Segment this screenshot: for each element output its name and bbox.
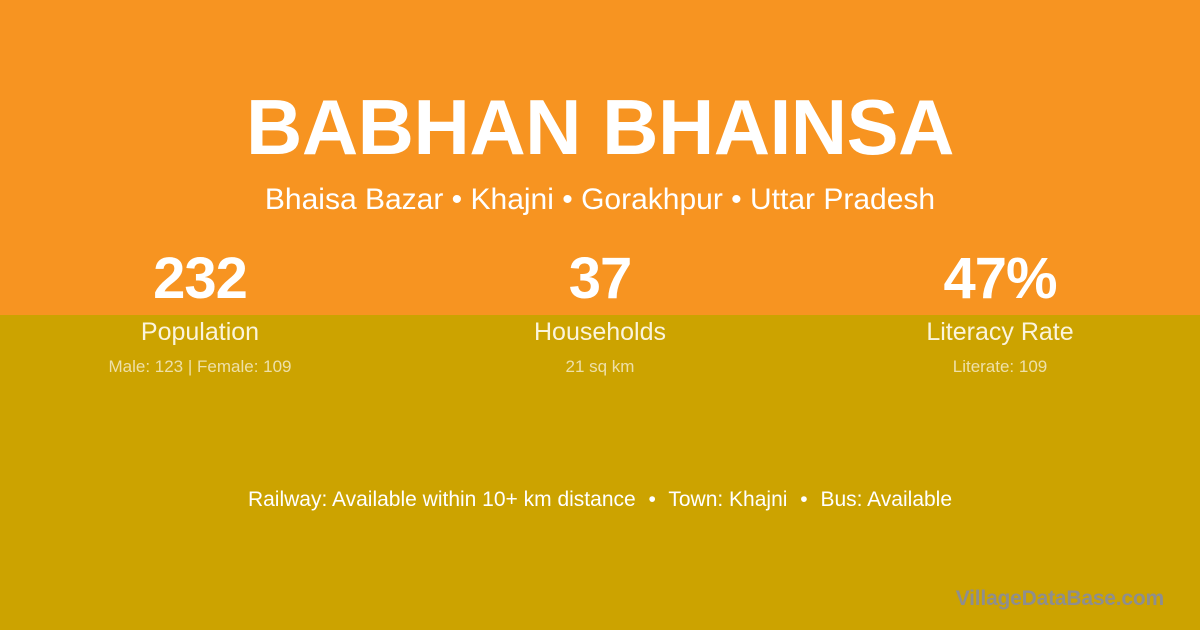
- stat-households-detail: 21 sq km: [400, 356, 800, 378]
- village-title: BABHAN BHAINSA: [0, 82, 1200, 172]
- stat-population-detail: Male: 123 | Female: 109: [0, 356, 400, 378]
- stat-literacy-rate: 47% Literacy Rate Literate: 109: [800, 243, 1200, 378]
- stat-population: 232 Population Male: 123 | Female: 109: [0, 243, 400, 378]
- amenities-info-line: Railway: Available within 10+ km distanc…: [0, 486, 1200, 514]
- stat-population-label: Population: [0, 316, 400, 348]
- stat-literacy-rate-value: 47%: [800, 243, 1200, 315]
- bus-info: Bus: Available: [820, 488, 952, 511]
- card-content: BABHAN BHAINSA Bhaisa Bazar • Khajni • G…: [0, 0, 1200, 630]
- info-separator-2: •: [793, 488, 814, 511]
- stat-population-value: 232: [0, 243, 400, 315]
- stat-literacy-rate-detail: Literate: 109: [800, 356, 1200, 378]
- stat-literacy-rate-label: Literacy Rate: [800, 316, 1200, 348]
- stat-households-label: Households: [400, 316, 800, 348]
- village-info-card: BABHAN BHAINSA Bhaisa Bazar • Khajni • G…: [0, 0, 1200, 630]
- site-branding: VillageDataBase.com: [956, 586, 1164, 612]
- stat-households-value: 37: [400, 243, 800, 315]
- stats-row: 232 Population Male: 123 | Female: 109 3…: [0, 243, 1200, 378]
- stat-households: 37 Households 21 sq km: [400, 243, 800, 378]
- village-location-breadcrumb: Bhaisa Bazar • Khajni • Gorakhpur • Utta…: [0, 181, 1200, 219]
- info-separator-1: •: [642, 488, 663, 511]
- town-info: Town: Khajni: [668, 488, 787, 511]
- railway-info: Railway: Available within 10+ km distanc…: [248, 488, 636, 511]
